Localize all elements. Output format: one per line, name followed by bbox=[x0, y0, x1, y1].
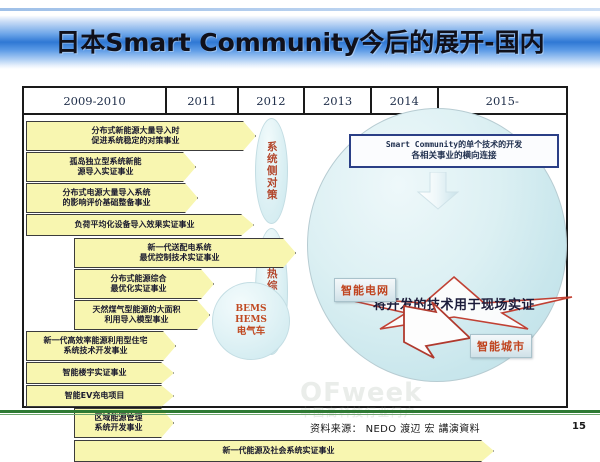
project-bar-12-label: 新一代能源及社会系统实证事业 bbox=[223, 446, 335, 456]
project-bar-6-label: 分布式能源综合 最优化实证事业 bbox=[111, 274, 167, 295]
project-bar-11-label: 区域能源管理 系统开发事业 bbox=[95, 413, 143, 434]
page-number: 15 bbox=[572, 421, 586, 432]
timeline-year-2011: 2011 bbox=[167, 88, 239, 113]
project-bar-1[interactable]: 分布式新能源大量导入时 促进系统稳定的对策事业 bbox=[26, 121, 256, 151]
page-title: 日本Smart Community今后的展开-国内 bbox=[0, 13, 600, 69]
project-bar-9[interactable]: 智能楼宇实证事业 bbox=[26, 362, 174, 384]
project-bar-8[interactable]: 新一代高效率能源利用型住宅 系统技术开发事业 bbox=[26, 331, 176, 361]
project-bar-9-label: 智能楼宇实证事业 bbox=[63, 368, 127, 378]
project-bar-10[interactable]: 智能EV充电项目 bbox=[26, 385, 174, 407]
bems-label: BEMS bbox=[236, 304, 267, 315]
bems-hems-circle: BEMS HEMS 电气车 bbox=[212, 282, 290, 360]
project-bar-3[interactable]: 分布式电源大量导入系统 的影响评价基础整备事业 bbox=[26, 183, 198, 213]
footer-divider bbox=[0, 410, 600, 413]
footer-divider-secondary bbox=[0, 414, 600, 415]
smart-grid-box[interactable]: 智能电网 bbox=[334, 278, 396, 302]
diagonal-arrow-icon bbox=[400, 298, 478, 370]
project-bar-6[interactable]: 分布式能源综合 最优化实证事业 bbox=[74, 269, 214, 299]
project-bar-4-label: 负荷平均化设备导入效果实证事业 bbox=[75, 220, 195, 230]
source-citation: 资料来源： NEDO 渡辺 宏 講演資料 bbox=[310, 420, 480, 435]
project-bar-2-label: 孤岛独立型系统新能 源导入实证事业 bbox=[70, 157, 142, 178]
smart-city-label: 智能城市 bbox=[477, 338, 525, 354]
slide-canvas: 2009-2010 2011 2012 2013 2014 2015- 系统侧对… bbox=[22, 86, 568, 408]
down-arrow-icon bbox=[416, 172, 460, 210]
hems-label: HEMS bbox=[235, 315, 267, 326]
project-bar-5[interactable]: 新一代送配电系统 最优控制技术实证事业 bbox=[74, 238, 296, 268]
smart-community-box: Smart Community的单个技术的开发 各相关事业的横向连接 bbox=[349, 134, 559, 168]
timeline-header: 2009-2010 2011 2012 2013 2014 2015- bbox=[24, 88, 566, 115]
project-bar-8-label: 新一代高效率能源利用型住宅 系统技术开发事业 bbox=[44, 336, 148, 357]
project-bar-2[interactable]: 孤岛独立型系统新能 源导入实证事业 bbox=[26, 152, 196, 182]
project-bar-1-label: 分布式新能源大量导入时 促进系统稳定的对策事业 bbox=[92, 126, 180, 147]
project-bar-7-label: 天然煤气型能源的大面积 利用导入模型事业 bbox=[93, 305, 181, 326]
project-bar-7[interactable]: 天然煤气型能源的大面积 利用导入模型事业 bbox=[74, 300, 210, 330]
timeline-year-2013: 2013 bbox=[305, 88, 372, 113]
side-label-system-text: 系统侧对策 bbox=[266, 141, 277, 201]
smart-community-box-line2: 各相关事业的横向连接 bbox=[411, 151, 496, 162]
timeline-year-2009-2010: 2009-2010 bbox=[24, 88, 167, 113]
side-label-system: 系统侧对策 bbox=[255, 118, 288, 224]
smart-city-box[interactable]: 智能城市 bbox=[470, 334, 532, 358]
smart-community-box-line1: Smart Community的单个技术的开发 bbox=[386, 140, 522, 151]
timeline-year-2012: 2012 bbox=[239, 88, 306, 113]
project-bar-4[interactable]: 负荷平均化设备导入效果实证事业 bbox=[26, 214, 254, 236]
ev-label: 电气车 bbox=[237, 326, 266, 338]
project-bar-3-label: 分布式电源大量导入系统 的影响评价基础整备事业 bbox=[63, 188, 151, 209]
smart-grid-label: 智能电网 bbox=[341, 282, 389, 298]
slide-title-bar: 日本Smart Community今后的展开-国内 bbox=[0, 13, 600, 69]
project-bar-10-label: 智能EV充电项目 bbox=[65, 391, 125, 401]
project-bar-12[interactable]: 新一代能源及社会系统实证事业 bbox=[74, 440, 494, 462]
project-bar-5-label: 新一代送配电系统 最优控制技术实证事业 bbox=[140, 243, 220, 264]
